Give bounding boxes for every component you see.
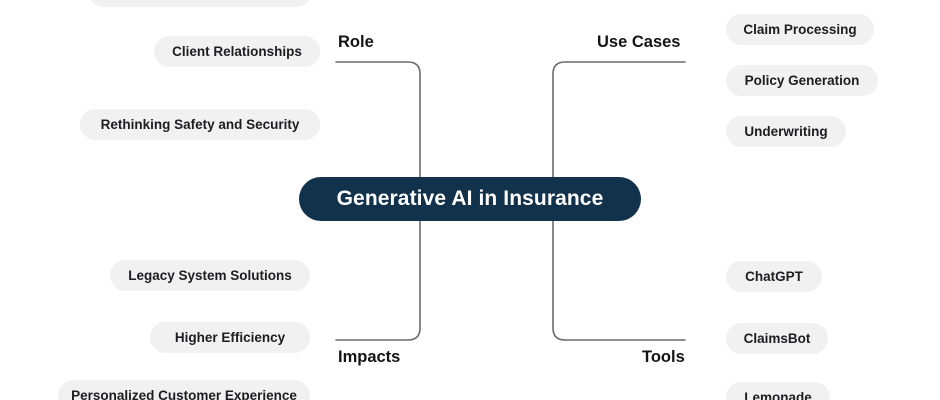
center-node-label: Generative AI in Insurance [337, 187, 604, 211]
connector-tools [553, 221, 685, 340]
branch-title-role[interactable]: Role [338, 33, 374, 52]
leaf-policy-generation-label: Policy Generation [745, 74, 860, 88]
leaf-policy-generation[interactable]: Policy Generation [726, 65, 878, 96]
branch-title-tools-label: Tools [642, 348, 685, 366]
branch-title-use-cases-label: Use Cases [597, 33, 680, 51]
branch-title-impacts[interactable]: Impacts [338, 348, 400, 367]
clipped-top-pill[interactable] [88, 0, 312, 7]
leaf-rethinking-safety-and-security[interactable]: Rethinking Safety and Security [80, 109, 320, 140]
connector-impacts [336, 221, 420, 340]
leaf-legacy-system-solutions-label: Legacy System Solutions [128, 269, 292, 283]
branch-title-role-label: Role [338, 33, 374, 51]
branch-title-tools[interactable]: Tools [642, 348, 685, 367]
leaf-chatgpt[interactable]: ChatGPT [726, 261, 822, 292]
leaf-personalized-customer-experience-label: Personalized Customer Experience [71, 389, 297, 400]
branch-title-use-cases[interactable]: Use Cases [597, 33, 680, 52]
leaf-claim-processing-label: Claim Processing [743, 23, 856, 37]
leaf-claimsbot-label: ClaimsBot [744, 332, 811, 346]
connector-role [336, 62, 420, 177]
leaf-higher-efficiency[interactable]: Higher Efficiency [150, 322, 310, 353]
leaf-lemonade[interactable]: Lemonade [726, 382, 830, 400]
leaf-underwriting-label: Underwriting [744, 125, 827, 139]
leaf-client-relationships-label: Client Relationships [172, 45, 302, 59]
leaf-lemonade-label: Lemonade [744, 391, 812, 400]
leaf-client-relationships[interactable]: Client Relationships [154, 36, 320, 67]
leaf-claimsbot[interactable]: ClaimsBot [726, 323, 828, 354]
leaf-legacy-system-solutions[interactable]: Legacy System Solutions [110, 260, 310, 291]
leaf-rethinking-safety-and-security-label: Rethinking Safety and Security [101, 118, 300, 132]
leaf-chatgpt-label: ChatGPT [745, 270, 803, 284]
leaf-higher-efficiency-label: Higher Efficiency [175, 331, 285, 345]
leaf-personalized-customer-experience[interactable]: Personalized Customer Experience [58, 380, 310, 400]
leaf-underwriting[interactable]: Underwriting [726, 116, 846, 147]
mind-map-canvas: Generative AI in Insurance Role Use Case… [0, 0, 940, 400]
connector-use-cases [553, 62, 685, 177]
leaf-claim-processing[interactable]: Claim Processing [726, 14, 874, 45]
center-node[interactable]: Generative AI in Insurance [299, 177, 641, 221]
branch-title-impacts-label: Impacts [338, 348, 400, 366]
